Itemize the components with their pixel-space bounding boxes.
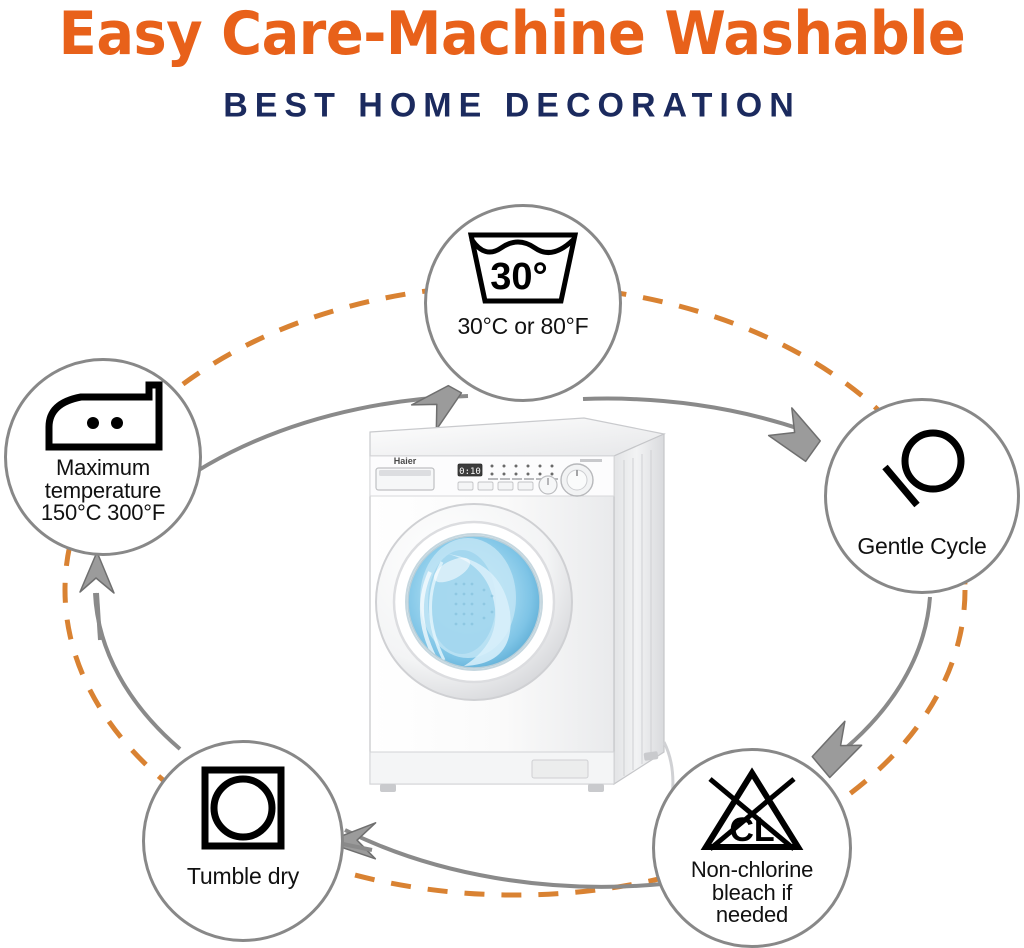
care-node-non-chlorine-bleach[interactable]: CL Non-chlorine bleach if needed	[652, 748, 852, 948]
care-node-label: 30°C or 80°F	[457, 315, 588, 339]
care-node-label: Non-chlorine bleach if needed	[691, 859, 813, 927]
washer-top-panel	[370, 418, 664, 456]
washer-foot-right	[588, 784, 604, 792]
arrow-to-bleach-circle	[810, 720, 864, 778]
wash-tub-icon: 30°	[463, 229, 583, 307]
detergent-drawer-handle	[379, 470, 431, 476]
header-block: Easy Care-Machine Washable BEST HOME DEC…	[0, 0, 1024, 124]
svg-text:30°: 30°	[490, 256, 547, 298]
arrow-to-iron-circle	[80, 552, 114, 593]
washer-brand-logo: Haier	[394, 456, 417, 466]
care-node-label: Tumble dry	[187, 865, 299, 889]
iron-two-dots-icon	[41, 381, 165, 455]
washer-filter-flap	[532, 760, 588, 778]
care-node-label: Gentle Cycle	[857, 535, 986, 559]
washer-foot-left	[380, 784, 396, 792]
led-display-value: 0:10	[459, 467, 481, 477]
gentle-cycle-icon	[867, 427, 977, 519]
tumble-dry-icon	[200, 765, 286, 851]
care-node-gentle-cycle[interactable]: Gentle Cycle	[824, 398, 1020, 594]
care-node-label: Maximum temperature 150°C 300°F	[41, 457, 165, 525]
care-node-iron-max-temperature[interactable]: Maximum temperature 150°C 300°F	[4, 358, 202, 556]
page-subtitle: BEST HOME DECORATION	[0, 65, 1024, 124]
care-node-tumble-dry[interactable]: Tumble dry	[142, 740, 344, 942]
page-title: Easy Care-Machine Washable	[36, 0, 988, 66]
care-node-wash-temperature[interactable]: 30° 30°C or 80°F	[424, 204, 622, 402]
arrow-to-gentle-circle	[769, 408, 827, 465]
washer-side-panel	[614, 434, 664, 784]
washing-machine-illustration: Haier 0:10	[352, 412, 682, 812]
washer-model-text	[580, 459, 602, 462]
no-chlorine-bleach-triangle-icon: CL	[698, 767, 806, 857]
